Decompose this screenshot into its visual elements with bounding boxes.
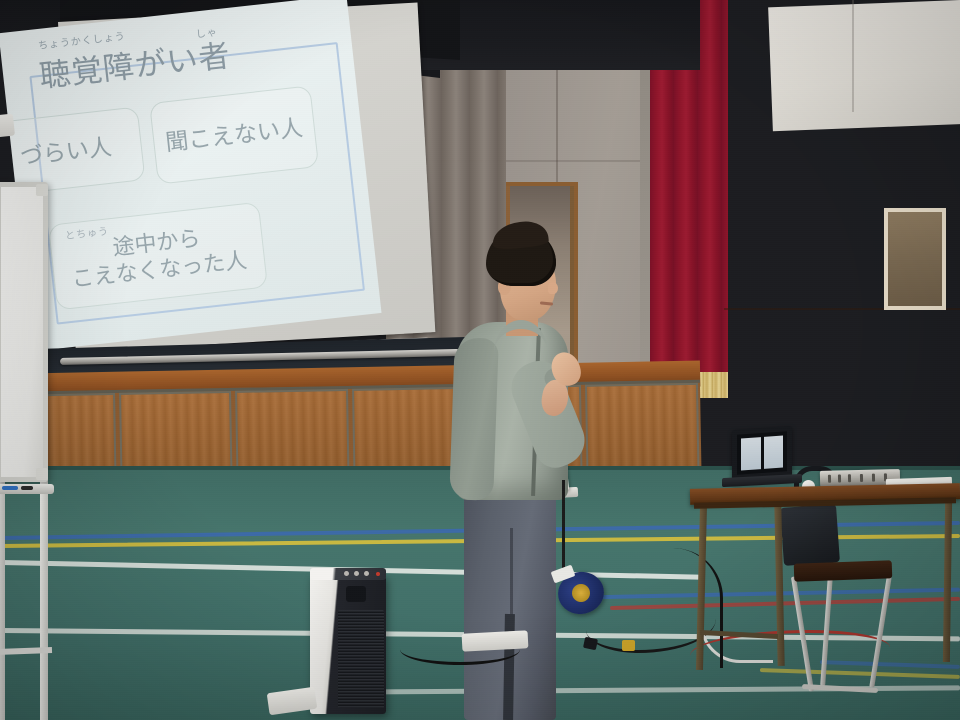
mixer-fader[interactable] xyxy=(838,474,841,482)
trouser-leg-gap xyxy=(503,614,515,720)
table-leg xyxy=(943,502,952,662)
mixer-fader[interactable] xyxy=(872,474,875,482)
cable-reel-hub xyxy=(572,584,590,602)
whiteboard-corner xyxy=(36,468,48,480)
presenter-left-arm xyxy=(449,337,499,500)
laptop-window[interactable] xyxy=(741,437,761,470)
pa-knob[interactable] xyxy=(354,571,359,576)
mixer-fader[interactable] xyxy=(828,475,831,483)
projected-slide: ちょうかくしょう しゃ 聴覚障がい者 づらい人 聞こえない人 とちゅう 途中から… xyxy=(0,0,382,351)
table-leg xyxy=(696,504,707,670)
presenter-nose xyxy=(548,282,558,294)
table-leg-brace xyxy=(700,630,778,639)
pa-knob[interactable] xyxy=(364,571,369,576)
pa-knob[interactable] xyxy=(344,571,349,576)
equipment-table xyxy=(690,486,960,686)
pa-power-led xyxy=(376,572,380,576)
mixer-fader[interactable] xyxy=(860,474,863,482)
table-leg xyxy=(774,504,784,666)
whiteboard-corner xyxy=(36,184,48,196)
cable-plug[interactable] xyxy=(583,637,598,650)
laptop-screen[interactable] xyxy=(737,431,787,474)
wall-window xyxy=(884,208,946,310)
photo-scene: ちょうかくしょう しゃ 聴覚障がい者 づらい人 聞こえない人 とちゅう 途中から… xyxy=(0,0,960,720)
whiteboard[interactable] xyxy=(0,182,48,482)
laptop-window[interactable] xyxy=(764,436,784,469)
black-marker[interactable] xyxy=(21,486,33,490)
acoustic-panel xyxy=(768,0,960,131)
acoustic-panel-seam xyxy=(852,0,854,112)
paper-on-floor xyxy=(462,630,529,651)
laptop[interactable] xyxy=(732,428,798,488)
pa-speaker-grille xyxy=(338,610,384,708)
pa-speaker-handle[interactable] xyxy=(346,586,366,602)
cable-plug-yellow[interactable] xyxy=(622,640,635,651)
blue-marker[interactable] xyxy=(2,486,18,490)
pa-speaker[interactable] xyxy=(310,574,386,714)
mixer-fader[interactable] xyxy=(848,474,851,482)
projection-screen: ちょうかくしょう しゃ 聴覚障がい者 づらい人 聞こえない人 とちゅう 途中から… xyxy=(58,3,435,352)
